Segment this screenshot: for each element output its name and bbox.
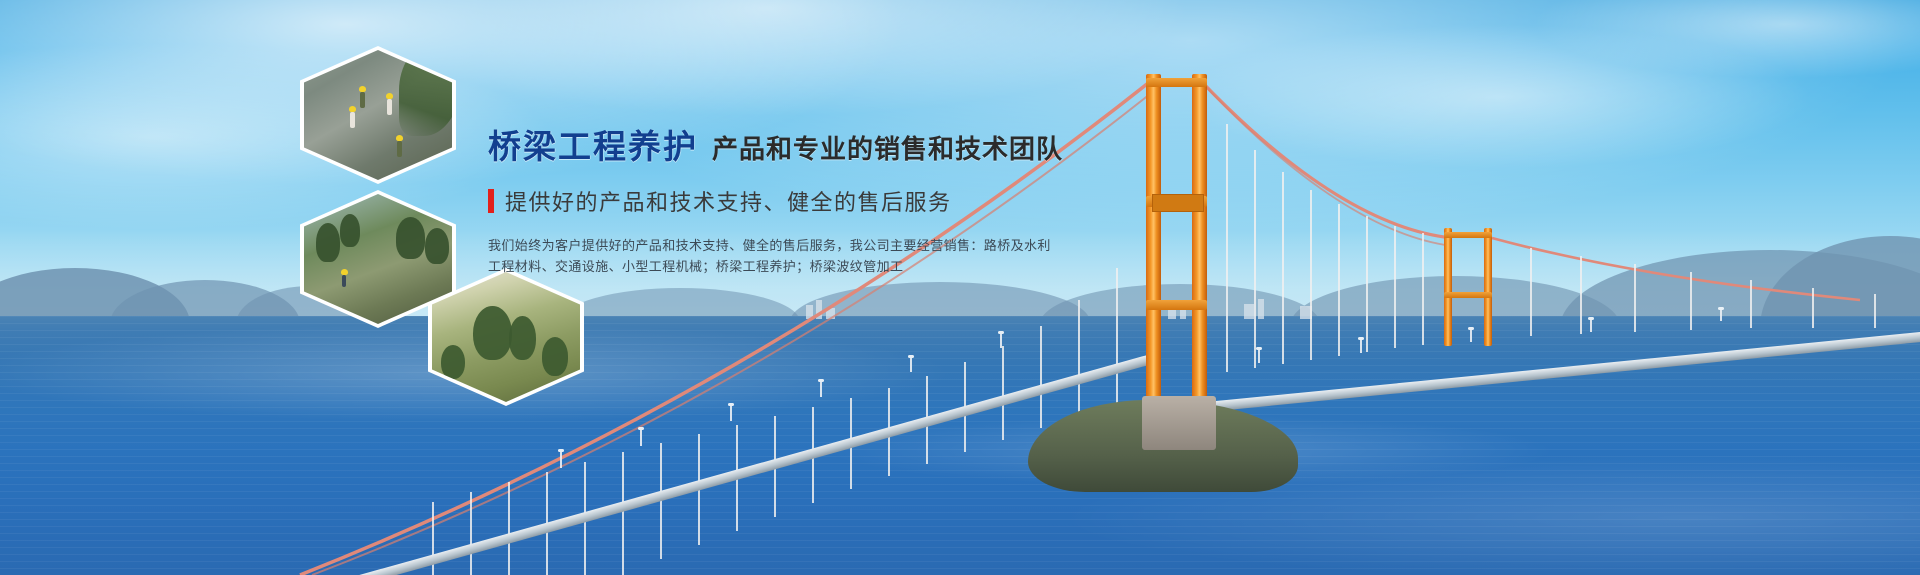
banner-copy: 桥梁工程养护 产品和专业的销售和技术团队 提供好的产品和技术支持、健全的售后服务… (488, 120, 1108, 277)
banner-body-line-2: 工程材料、交通设施、小型工程机械；桥梁工程养护；桥梁波纹管加工 (488, 256, 1108, 277)
accent-bar (488, 189, 494, 213)
pylon-sign (1152, 194, 1204, 212)
rock-slope-mesh-photo (304, 50, 452, 180)
suspension-bridge (0, 0, 1920, 575)
headline-secondary: 产品和专业的销售和技术团队 (712, 129, 1063, 166)
hex-image-vegetated-slope-inner (432, 272, 580, 402)
headline-primary: 桥梁工程养护 (488, 120, 698, 168)
banner-subtitle-row: 提供好的产品和技术支持、健全的售后服务 (488, 185, 1108, 217)
banner-headline: 桥梁工程养护 产品和专业的销售和技术团队 (488, 120, 1108, 168)
bridge-cables (0, 0, 1920, 575)
bridge-pier (1142, 396, 1216, 450)
vegetated-slope-netting-photo (432, 272, 580, 402)
banner-body: 我们始终为客户提供好的产品和技术支持、健全的售后服务，我公司主要经营销售：路桥及… (488, 235, 1108, 277)
banner-subtitle: 提供好的产品和技术支持、健全的售后服务 (505, 185, 952, 217)
banner-body-line-1: 我们始终为客户提供好的产品和技术支持、健全的售后服务，我公司主要经营销售：路桥及… (488, 235, 1108, 256)
hex-image-rock-slope-inner (304, 50, 452, 180)
hero-banner: 桥梁工程养护 产品和专业的销售和技术团队 提供好的产品和技术支持、健全的售后服务… (0, 0, 1920, 575)
